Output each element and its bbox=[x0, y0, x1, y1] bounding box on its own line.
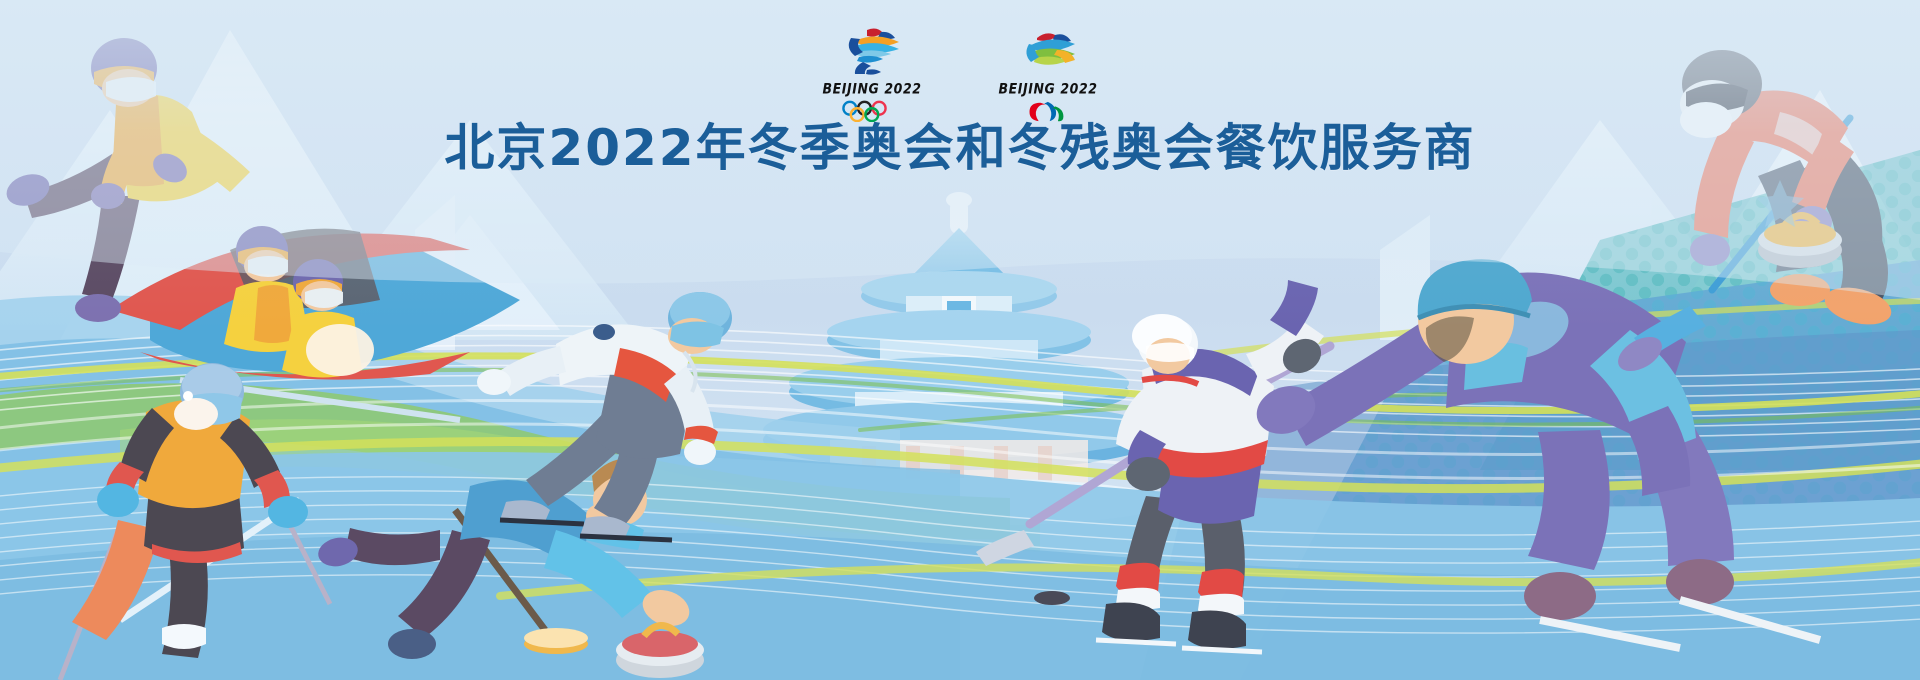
page-title: 北京2022年冬季奥会和冬残奥会餐饮服务商 bbox=[0, 117, 1920, 179]
olympic-wordmark: BEIJING 2022 bbox=[822, 80, 921, 97]
olympics-catering-banner: BEIJING 2022 BEIJIN bbox=[0, 0, 1920, 680]
olympic-logo-block: BEIJING 2022 bbox=[812, 26, 932, 122]
beijing-2022-paralympic-emblem-icon bbox=[1013, 26, 1083, 78]
paralympic-logo-block: BEIJING 2022 bbox=[988, 26, 1108, 122]
paralympic-wordmark: BEIJING 2022 bbox=[998, 80, 1097, 97]
logo-lockup: BEIJING 2022 BEIJIN bbox=[0, 26, 1920, 122]
beijing-2022-olympic-emblem-icon bbox=[837, 26, 907, 78]
